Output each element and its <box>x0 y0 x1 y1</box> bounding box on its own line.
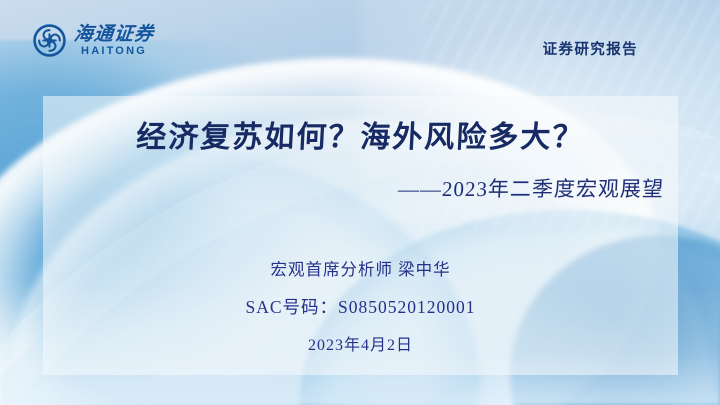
sac-number-line: SAC号码：S0850520120001 <box>43 294 678 319</box>
cover-slide: 海通证券 HAITONG 证券研究报告 经济复苏如何？海外风险多大？ ——202… <box>0 0 720 405</box>
analyst-line: 宏观首席分析师 梁中华 <box>43 256 678 280</box>
page-title: 经济复苏如何？海外风险多大？ <box>42 112 679 156</box>
report-type-label: 证券研究报告 <box>543 38 638 59</box>
publish-date-line: 2023年4月2日 <box>43 331 678 355</box>
page-subtitle: ——2023年二季度宏观展望 <box>42 173 665 203</box>
brand-name-cn: 海通证券 <box>73 25 155 44</box>
brand-logo[interactable]: 海通证券 HAITONG <box>33 24 154 57</box>
brand-name-en: HAITONG <box>74 46 154 57</box>
brand-wordmark: 海通证券 HAITONG <box>74 25 154 57</box>
haitong-emblem-icon <box>33 24 66 57</box>
slide-header: 海通证券 HAITONG 证券研究报告 <box>0 0 720 92</box>
